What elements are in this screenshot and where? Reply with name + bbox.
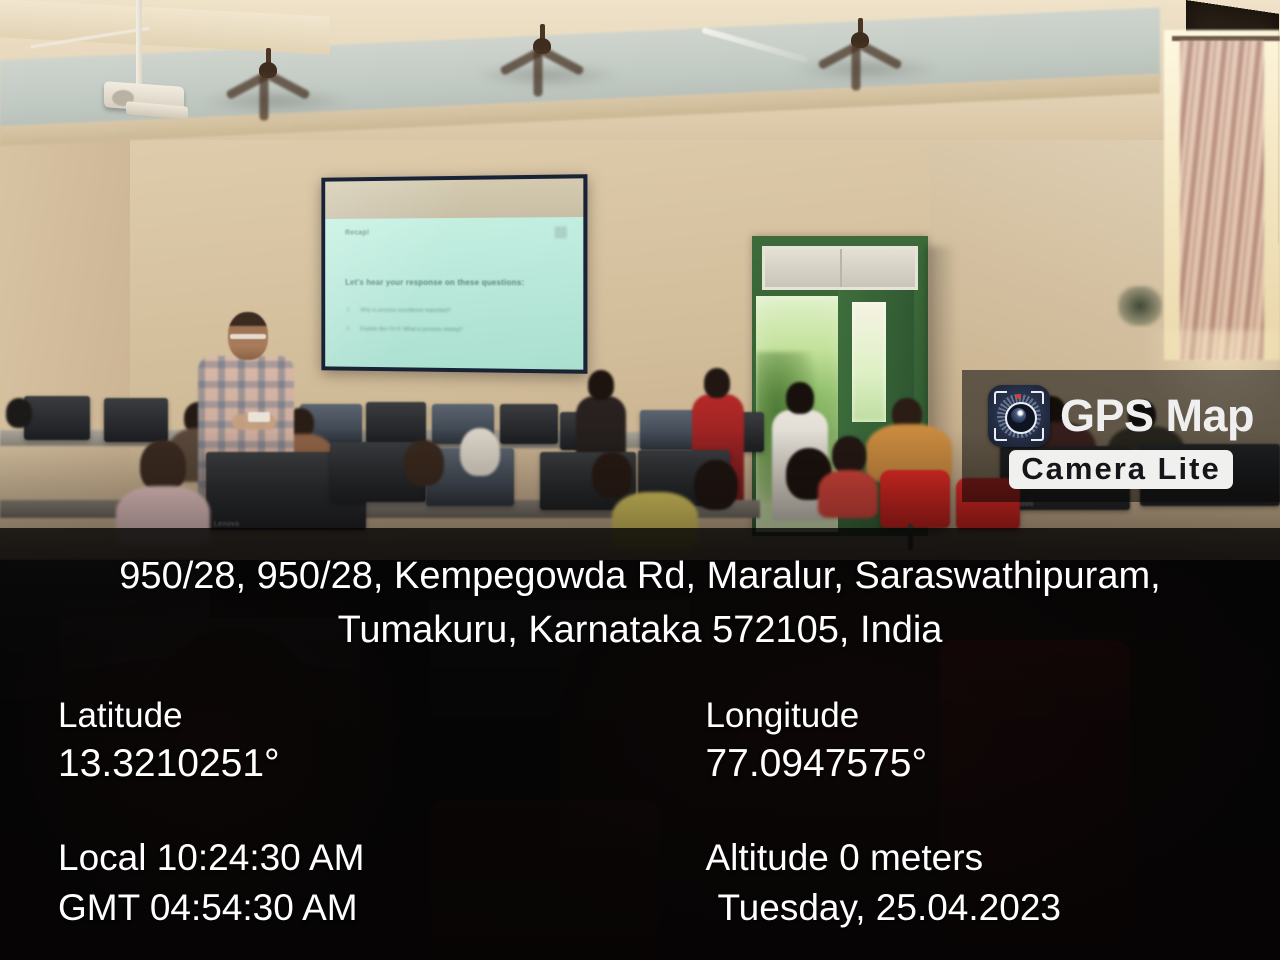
local-time: Local 10:24:30 AM	[58, 833, 681, 883]
slide-bullet-2: Explain like I'm 5: What is process mini…	[360, 326, 462, 333]
window-curtain	[1180, 40, 1264, 360]
instructor-glasses	[230, 334, 266, 339]
longitude-block: Longitude 77.0947575°	[693, 694, 1280, 789]
latitude-value: 13.3210251°	[58, 739, 681, 790]
person-head	[6, 398, 32, 428]
longitude-value: 77.0947575°	[705, 739, 1268, 790]
altitude-value: Altitude 0 meters	[705, 833, 1268, 883]
door-glass-panel	[852, 302, 886, 422]
date-value: Tuesday, 25.04.2023	[705, 883, 1268, 933]
ceiling-fan-3	[800, 18, 920, 62]
watermark-title: GPS Map	[1060, 393, 1254, 438]
slide-bullet-2-number: 2.	[346, 326, 350, 332]
projection-screen: Recap! Let's hear your response on these…	[321, 174, 587, 374]
instructor-phone	[248, 412, 270, 422]
slide-top-band	[325, 178, 583, 218]
latitude-block: Latitude 13.3210251°	[58, 694, 693, 789]
projector-mount-pole	[136, 0, 142, 86]
time-block: Local 10:24:30 AM GMT 04:54:30 AM	[58, 833, 693, 933]
slide-bullet-1-number: 1.	[346, 307, 350, 313]
gps-camera-logo-icon	[988, 385, 1050, 447]
gmt-time: GMT 04:54:30 AM	[58, 883, 681, 933]
altitude-date-block: Altitude 0 meters Tuesday, 25.04.2023	[693, 833, 1280, 933]
latitude-label: Latitude	[58, 694, 681, 739]
gps-info-panel: 950/28, 950/28, Kempegowda Rd, Maralur, …	[0, 528, 1280, 960]
slide-body	[325, 217, 583, 370]
ceiling-fan-1	[208, 48, 328, 92]
potted-plant	[1118, 286, 1162, 326]
longitude-label: Longitude	[705, 694, 1268, 739]
slide-logo-icon	[555, 226, 567, 238]
gps-map-camera-watermark: GPS Map Camera Lite	[962, 370, 1280, 502]
time-altitude-row: Local 10:24:30 AM GMT 04:54:30 AM Altitu…	[0, 833, 1280, 933]
standing-person-head	[588, 370, 614, 400]
standing-person-head	[704, 368, 730, 398]
screenshot-root: Recap! Let's hear your response on these…	[0, 0, 1280, 960]
slide-bullet-1: Why is process excellence important?	[360, 307, 450, 313]
coordinates-row: Latitude 13.3210251° Longitude 77.094757…	[0, 694, 1280, 789]
watermark-subtitle: Camera Lite	[1009, 450, 1232, 489]
slide-lead-text: Let's hear your response on these questi…	[345, 278, 524, 287]
address-text: 950/28, 950/28, Kempegowda Rd, Maralur, …	[0, 528, 1280, 658]
slide-title: Recap!	[345, 229, 369, 236]
ceiling-fan-2	[482, 24, 602, 68]
standing-person-head	[786, 382, 814, 414]
door-transom-window	[762, 246, 918, 290]
